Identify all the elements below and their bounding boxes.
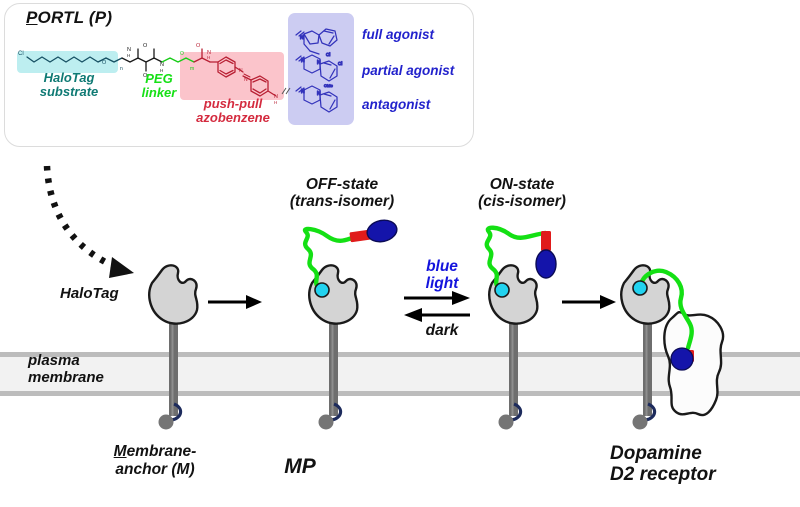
off-state-unit <box>305 218 399 430</box>
halotag-label: HaloTag <box>60 285 119 302</box>
membrane-anchor-label: Membrane- anchor (M) <box>70 443 240 478</box>
membrane-anchor-line1: Membrane- <box>70 443 240 461</box>
mp-label: MP <box>255 455 345 479</box>
arrow-3-to-4 <box>562 295 616 309</box>
blue-light-label: blue light <box>407 258 477 293</box>
arrow-1-to-2 <box>208 295 262 309</box>
figure-canvas: PORTL (P) Cl O n N H O O N H O <box>0 0 800 507</box>
dopamine-d2-receptor-label: Dopamine D2 receptor <box>610 443 795 486</box>
membrane-schematic <box>0 0 800 507</box>
dashed-incorporation-arrow <box>47 166 134 278</box>
plasma-membrane-label: plasma membrane <box>28 352 104 387</box>
dark-label: dark <box>407 322 477 340</box>
membrane-anchor-line2: anchor (M) <box>70 461 240 479</box>
equilibrium-arrows <box>404 291 470 322</box>
receptor-bound-unit <box>621 265 723 429</box>
on-state-unit <box>487 228 556 430</box>
halotag-anchor-unit-1 <box>149 265 197 429</box>
membrane-anchor-line1-rest: embrane- <box>127 443 197 460</box>
membrane-anchor-underlined-letter: M <box>114 443 127 460</box>
